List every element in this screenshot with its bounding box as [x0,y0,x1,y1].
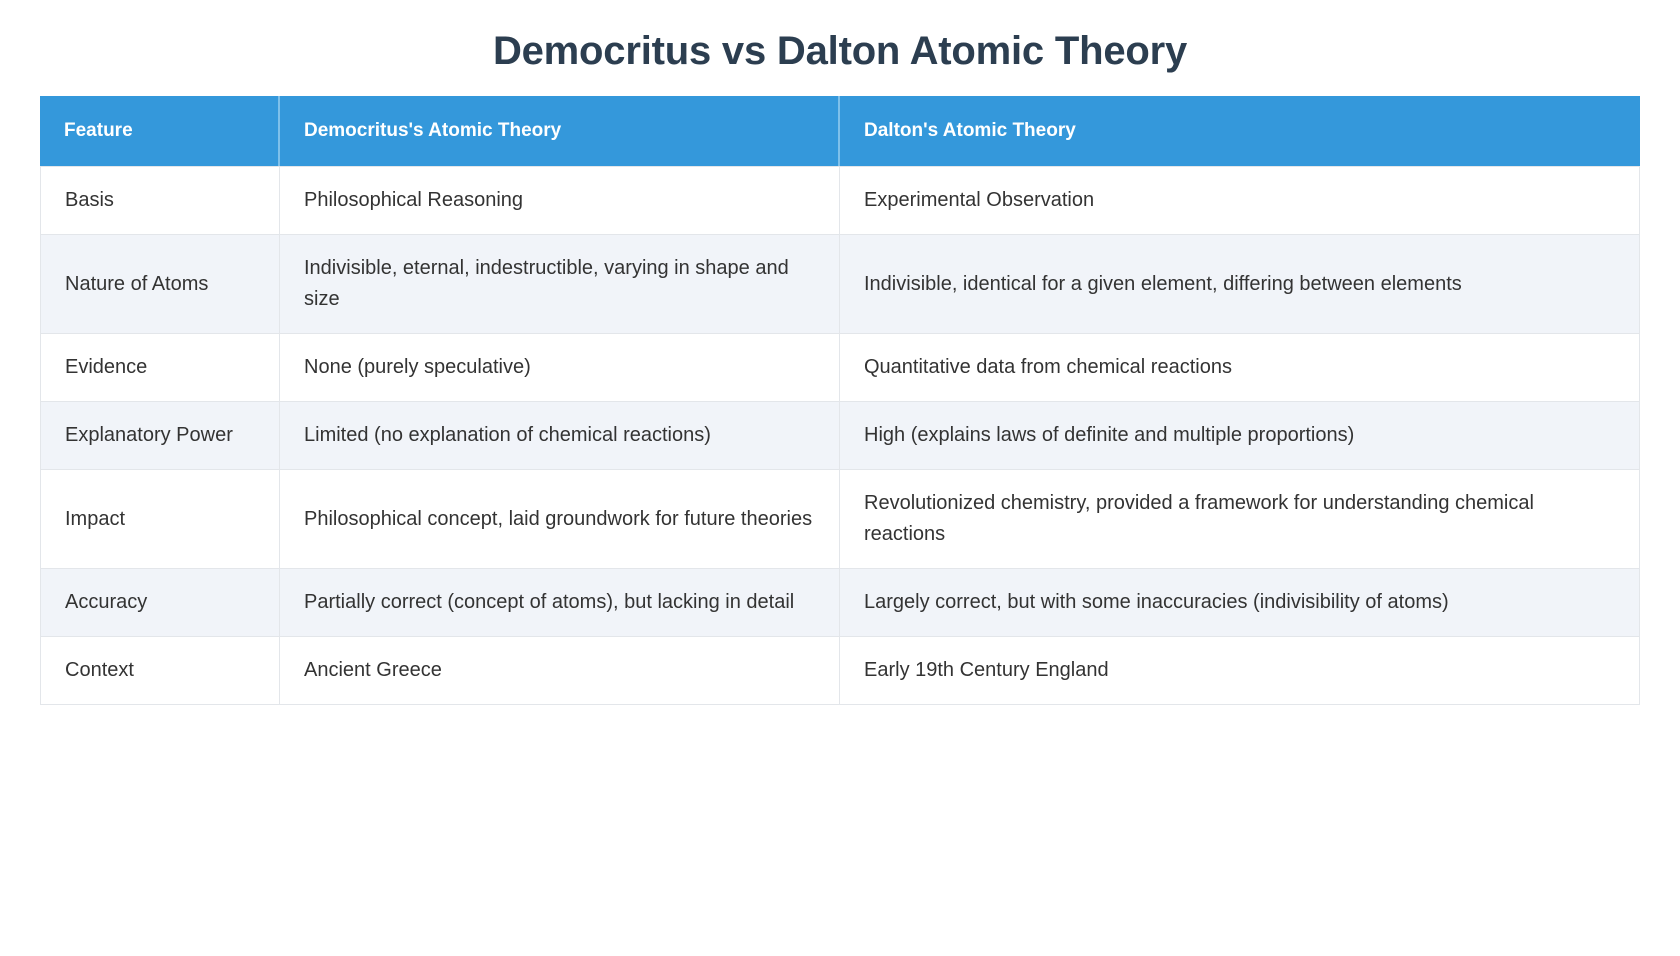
table-row: ImpactPhilosophical concept, laid ground… [40,470,1640,569]
cell-dalton: Revolutionized chemistry, provided a fra… [840,470,1640,569]
cell-feature: Evidence [40,334,280,402]
table-header-row: Feature Democritus's Atomic Theory Dalto… [40,96,1640,166]
cell-feature: Impact [40,470,280,569]
cell-feature: Explanatory Power [40,402,280,470]
cell-dalton: Indivisible, identical for a given eleme… [840,235,1640,334]
cell-dalton: High (explains laws of definite and mult… [840,402,1640,470]
cell-dalton: Early 19th Century England [840,637,1640,705]
cell-democritus: Philosophical concept, laid groundwork f… [280,470,840,569]
table-header: Feature Democritus's Atomic Theory Dalto… [40,96,1640,166]
table-row: Nature of AtomsIndivisible, eternal, ind… [40,235,1640,334]
cell-feature: Nature of Atoms [40,235,280,334]
comparison-table: Feature Democritus's Atomic Theory Dalto… [40,96,1640,705]
cell-democritus: None (purely speculative) [280,334,840,402]
page-title: Democritus vs Dalton Atomic Theory [40,28,1640,74]
column-header-feature: Feature [40,96,280,166]
table-row: ContextAncient GreeceEarly 19th Century … [40,637,1640,705]
table-row: BasisPhilosophical ReasoningExperimental… [40,166,1640,235]
cell-democritus: Limited (no explanation of chemical reac… [280,402,840,470]
column-header-democritus: Democritus's Atomic Theory [280,96,840,166]
cell-feature: Basis [40,166,280,235]
page-container: Democritus vs Dalton Atomic Theory Featu… [0,28,1680,705]
cell-democritus: Indivisible, eternal, indestructible, va… [280,235,840,334]
cell-dalton: Experimental Observation [840,166,1640,235]
cell-dalton: Largely correct, but with some inaccurac… [840,569,1640,637]
cell-democritus: Ancient Greece [280,637,840,705]
table-row: Explanatory PowerLimited (no explanation… [40,402,1640,470]
cell-dalton: Quantitative data from chemical reaction… [840,334,1640,402]
table-body: BasisPhilosophical ReasoningExperimental… [40,166,1640,705]
cell-democritus: Philosophical Reasoning [280,166,840,235]
column-header-dalton: Dalton's Atomic Theory [840,96,1640,166]
table-row: AccuracyPartially correct (concept of at… [40,569,1640,637]
cell-democritus: Partially correct (concept of atoms), bu… [280,569,840,637]
cell-feature: Context [40,637,280,705]
table-row: EvidenceNone (purely speculative)Quantit… [40,334,1640,402]
cell-feature: Accuracy [40,569,280,637]
